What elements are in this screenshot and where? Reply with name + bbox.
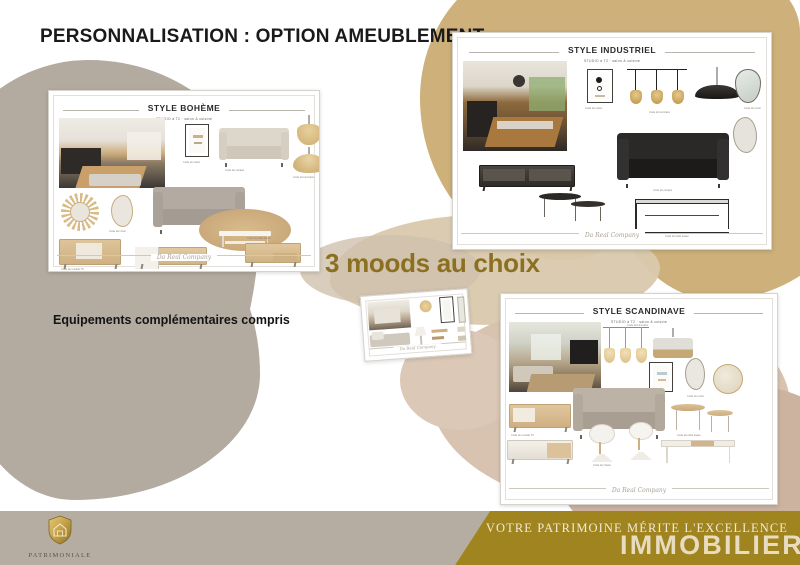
signature-text: Da Real Company xyxy=(151,254,217,261)
page-title: PERSONNALISATION : OPTION AMEUBLEMENT xyxy=(40,26,484,48)
round-table-item xyxy=(707,410,733,432)
board-title: STYLE INDUSTRIEL xyxy=(559,45,665,55)
tv-sideboard-item xyxy=(507,440,573,464)
mirror-item xyxy=(457,296,466,322)
item-caption: Code de meuble TV xyxy=(61,268,84,271)
equipment-note: Equipements complémentaires compris xyxy=(53,313,290,327)
item-caption: Code de cadre xyxy=(585,107,602,110)
mood-board-scandinave[interactable]: STYLE SCANDINAVE STUDIO à T2 · salon & c… xyxy=(500,293,778,505)
mirror-item xyxy=(685,358,705,390)
footer-immobilier: IMMOBILIER xyxy=(620,530,800,561)
item-caption: Code de canapé xyxy=(653,189,672,192)
board-title: STYLE BOHÈME xyxy=(139,103,229,113)
signature-text: Da Real Company xyxy=(393,343,441,352)
board-signature: Da Real Company xyxy=(49,246,319,264)
signature-text: Da Real Company xyxy=(579,232,645,239)
moods-callout: 3 moods au choix xyxy=(325,248,540,279)
item-caption: Code de meuble TV xyxy=(511,434,534,437)
door-item xyxy=(439,296,455,323)
mood-board-boheme[interactable]: STYLE BOHÈME STUDIO à T2 · salon & cuisi… xyxy=(48,90,320,272)
item-caption: Code de chaise xyxy=(593,464,611,467)
interior-photo xyxy=(463,61,567,151)
item-caption: Code de luminaire xyxy=(293,176,314,179)
board-signature: Da Real Company xyxy=(453,224,771,242)
item-caption: Code de miroir xyxy=(687,395,704,398)
drum-lamp-item xyxy=(653,328,693,358)
item-caption: Code de luminaire xyxy=(649,111,670,114)
mood-board-industriel[interactable]: STYLE INDUSTRIEL STUDIO à T2 · salon & c… xyxy=(452,32,772,250)
interior-photo xyxy=(59,118,165,188)
wavy-mirror-item xyxy=(111,195,133,227)
wall-frame-item xyxy=(587,69,613,103)
mirror-item xyxy=(713,364,743,394)
tv-console-item xyxy=(479,165,575,191)
item-caption: Code de table basse xyxy=(247,237,271,240)
slide-canvas: PERSONNALISATION : OPTION AMEUBLEMENT ST… xyxy=(0,0,800,565)
item-caption: Code de table basse xyxy=(677,434,701,437)
item-caption: Code de canapé xyxy=(225,169,244,172)
interior-photo xyxy=(509,322,601,392)
board-signature: Da Real Company xyxy=(501,479,777,497)
tv-sideboard-item xyxy=(509,404,571,432)
board-header-scandinave: STYLE SCANDINAVE STUDIO à T2 · salon & c… xyxy=(501,301,777,324)
brand-logo[interactable]: PATRIMONIALE xyxy=(22,515,98,559)
signature-text: Da Real Company xyxy=(606,487,672,494)
item-caption: Code de luminaire xyxy=(627,324,648,327)
sofa-item xyxy=(617,133,729,185)
chair-item xyxy=(587,424,617,462)
brand-name: PATRIMONIALE xyxy=(22,552,98,559)
mirror-item xyxy=(733,117,757,153)
sofa-item xyxy=(219,128,289,164)
mood-board-chambre[interactable]: Da Real Company xyxy=(360,288,473,362)
item-caption: Code de cadre xyxy=(183,161,200,164)
page-footer: PATRIMONIALE VOTRE PATRIMOINE MÉRITE L'E… xyxy=(0,511,800,565)
wall-frame-item xyxy=(185,124,209,157)
item-caption: Code de miroir xyxy=(109,230,126,233)
pendant-lamp-item xyxy=(297,115,320,145)
item-caption: Code de miroir xyxy=(744,107,761,110)
sunburst-mirror-item xyxy=(61,193,99,231)
pendant-lamp-item xyxy=(627,65,687,107)
interior-photo xyxy=(367,299,411,330)
board-title: STYLE SCANDINAVE xyxy=(584,306,695,316)
shield-house-icon xyxy=(47,515,73,545)
coffee-table-item xyxy=(661,440,735,466)
pendant-lamp-item xyxy=(293,147,320,173)
pendant-lamp-item xyxy=(695,67,739,99)
pendant-lamp-item xyxy=(603,324,649,366)
board-header-industriel: STYLE INDUSTRIEL STUDIO à T2 · salon & c… xyxy=(453,40,771,63)
nesting-table-item xyxy=(571,201,605,221)
round-table-item xyxy=(671,404,705,430)
chair-item xyxy=(627,422,655,460)
